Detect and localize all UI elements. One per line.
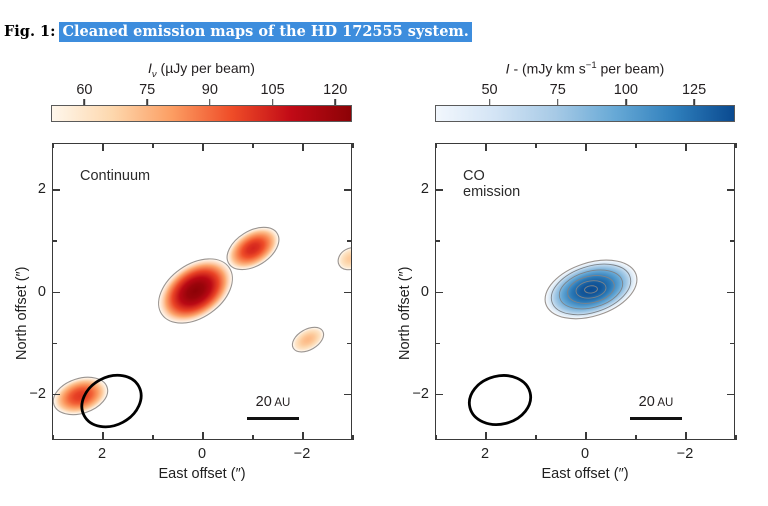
- figure-caption-text: Cleaned emission maps of the HD 172555 s…: [59, 22, 471, 42]
- scalebar-label: 20 AU: [256, 394, 291, 410]
- figure-caption: Fig. 1: Cleaned emission maps of the HD …: [4, 22, 472, 42]
- x-minor-tick: [535, 435, 537, 440]
- plot-area-continuum[interactable]: [52, 143, 352, 440]
- colorbar-tick-labels-co-emission: 5075100125: [435, 82, 735, 99]
- scalebar-unit: AU: [655, 397, 674, 409]
- y-axis-title-co-emission: North offset (″): [397, 266, 413, 360]
- y-minor-tick-right: [730, 240, 735, 242]
- colorbar-co-emission: I - (mJy km s−1 per beam) 5075100125: [435, 60, 735, 120]
- x-major-tick-top: [202, 143, 204, 151]
- colorbar-tick-label: 75: [139, 82, 155, 98]
- colorbar-tick-label: 60: [76, 82, 92, 98]
- x-major-tick: [202, 432, 204, 440]
- x-minor-tick-top: [52, 143, 54, 148]
- y-major-tick: [435, 189, 443, 191]
- y-tick-label: −2: [22, 386, 46, 402]
- colorbar-tick-label: 105: [260, 82, 284, 98]
- scalebar-unit: AU: [272, 397, 291, 409]
- y-major-tick: [435, 394, 443, 396]
- x-minor-tick: [52, 435, 54, 440]
- y-major-tick: [435, 292, 443, 294]
- x-major-tick: [302, 432, 304, 440]
- x-tick-label: 2: [481, 446, 489, 462]
- y-major-tick-right: [344, 394, 352, 396]
- colorbar-title-continuum: Iν (µJy per beam): [51, 60, 352, 80]
- scalebar-line: [247, 417, 299, 420]
- x-major-tick-top: [485, 143, 487, 151]
- y-major-tick-right: [727, 189, 735, 191]
- west-edge-clump: [334, 243, 352, 274]
- x-tick-label: 0: [581, 446, 589, 462]
- x-tick-label: 2: [98, 446, 106, 462]
- y-minor-tick: [435, 240, 440, 242]
- y-major-tick-right: [727, 394, 735, 396]
- x-minor-tick-top: [535, 143, 537, 148]
- x-major-tick: [685, 432, 687, 440]
- x-major-tick: [485, 432, 487, 440]
- y-major-tick-right: [344, 292, 352, 294]
- x-minor-tick-top: [735, 143, 737, 148]
- southwest-clump: [288, 322, 328, 357]
- colorbar-tick-label: 120: [323, 82, 347, 98]
- x-tick-label: 0: [198, 446, 206, 462]
- panel-label-continuum: Continuum: [80, 168, 150, 184]
- x-major-tick-top: [585, 143, 587, 151]
- y-major-tick-right: [344, 189, 352, 191]
- x-minor-tick: [635, 435, 637, 440]
- colorbar-tick-label: 125: [682, 82, 706, 98]
- x-major-tick-top: [302, 143, 304, 151]
- y-tick-label: −2: [405, 386, 429, 402]
- y-minor-tick-right: [347, 240, 352, 242]
- continuum-map-canvas: [53, 144, 352, 440]
- x-minor-tick: [152, 435, 154, 440]
- y-major-tick: [52, 189, 60, 191]
- y-minor-tick-right: [347, 343, 352, 345]
- x-tick-label: −2: [677, 446, 694, 462]
- scalebar-label: 20 AU: [639, 394, 674, 410]
- x-minor-tick-top: [435, 143, 437, 148]
- y-axis-title-continuum: North offset (″): [14, 266, 30, 360]
- x-minor-tick-top: [252, 143, 254, 148]
- figure-number: Fig. 1:: [4, 23, 59, 40]
- x-minor-tick: [252, 435, 254, 440]
- y-minor-tick-right: [730, 343, 735, 345]
- beam-ellipse: [464, 369, 536, 431]
- x-major-tick: [585, 432, 587, 440]
- x-major-tick-top: [685, 143, 687, 151]
- x-major-tick-top: [102, 143, 104, 151]
- colorbar-continuum: Iν (µJy per beam) 607590105120: [51, 60, 352, 120]
- y-minor-tick: [435, 343, 440, 345]
- x-minor-tick-top: [352, 143, 354, 148]
- y-major-tick: [52, 394, 60, 396]
- x-major-tick: [102, 432, 104, 440]
- scalebar-value: 20: [639, 394, 655, 410]
- scalebar-line: [630, 417, 682, 420]
- colorbar-tick-labels-continuum: 607590105120: [51, 82, 352, 99]
- colorbar-title-co-emission: I - (mJy km s−1 per beam): [435, 60, 735, 77]
- x-minor-tick: [435, 435, 437, 440]
- x-minor-tick-top: [635, 143, 637, 148]
- x-minor-tick-top: [152, 143, 154, 148]
- x-minor-tick: [352, 435, 354, 440]
- scalebar-value: 20: [256, 394, 272, 410]
- x-tick-label: −2: [294, 446, 311, 462]
- x-minor-tick: [735, 435, 737, 440]
- y-minor-tick: [52, 343, 57, 345]
- x-axis-title-co-emission: East offset (″): [541, 466, 628, 482]
- panel-label-co-emission: CO emission: [463, 168, 520, 200]
- y-minor-tick: [52, 240, 57, 242]
- colorbar-tick-label: 90: [202, 82, 218, 98]
- colorbar-tick-label: 100: [614, 82, 638, 98]
- colorbar-tick-label: 50: [481, 82, 497, 98]
- colorbar-tick-label: 75: [550, 82, 566, 98]
- y-tick-label: 2: [22, 181, 46, 197]
- y-major-tick: [52, 292, 60, 294]
- y-tick-label: 2: [405, 181, 429, 197]
- x-axis-title-continuum: East offset (″): [158, 466, 245, 482]
- colorbar-gradient-continuum: [51, 105, 352, 122]
- y-major-tick-right: [727, 292, 735, 294]
- colorbar-gradient-co-emission: [435, 105, 735, 122]
